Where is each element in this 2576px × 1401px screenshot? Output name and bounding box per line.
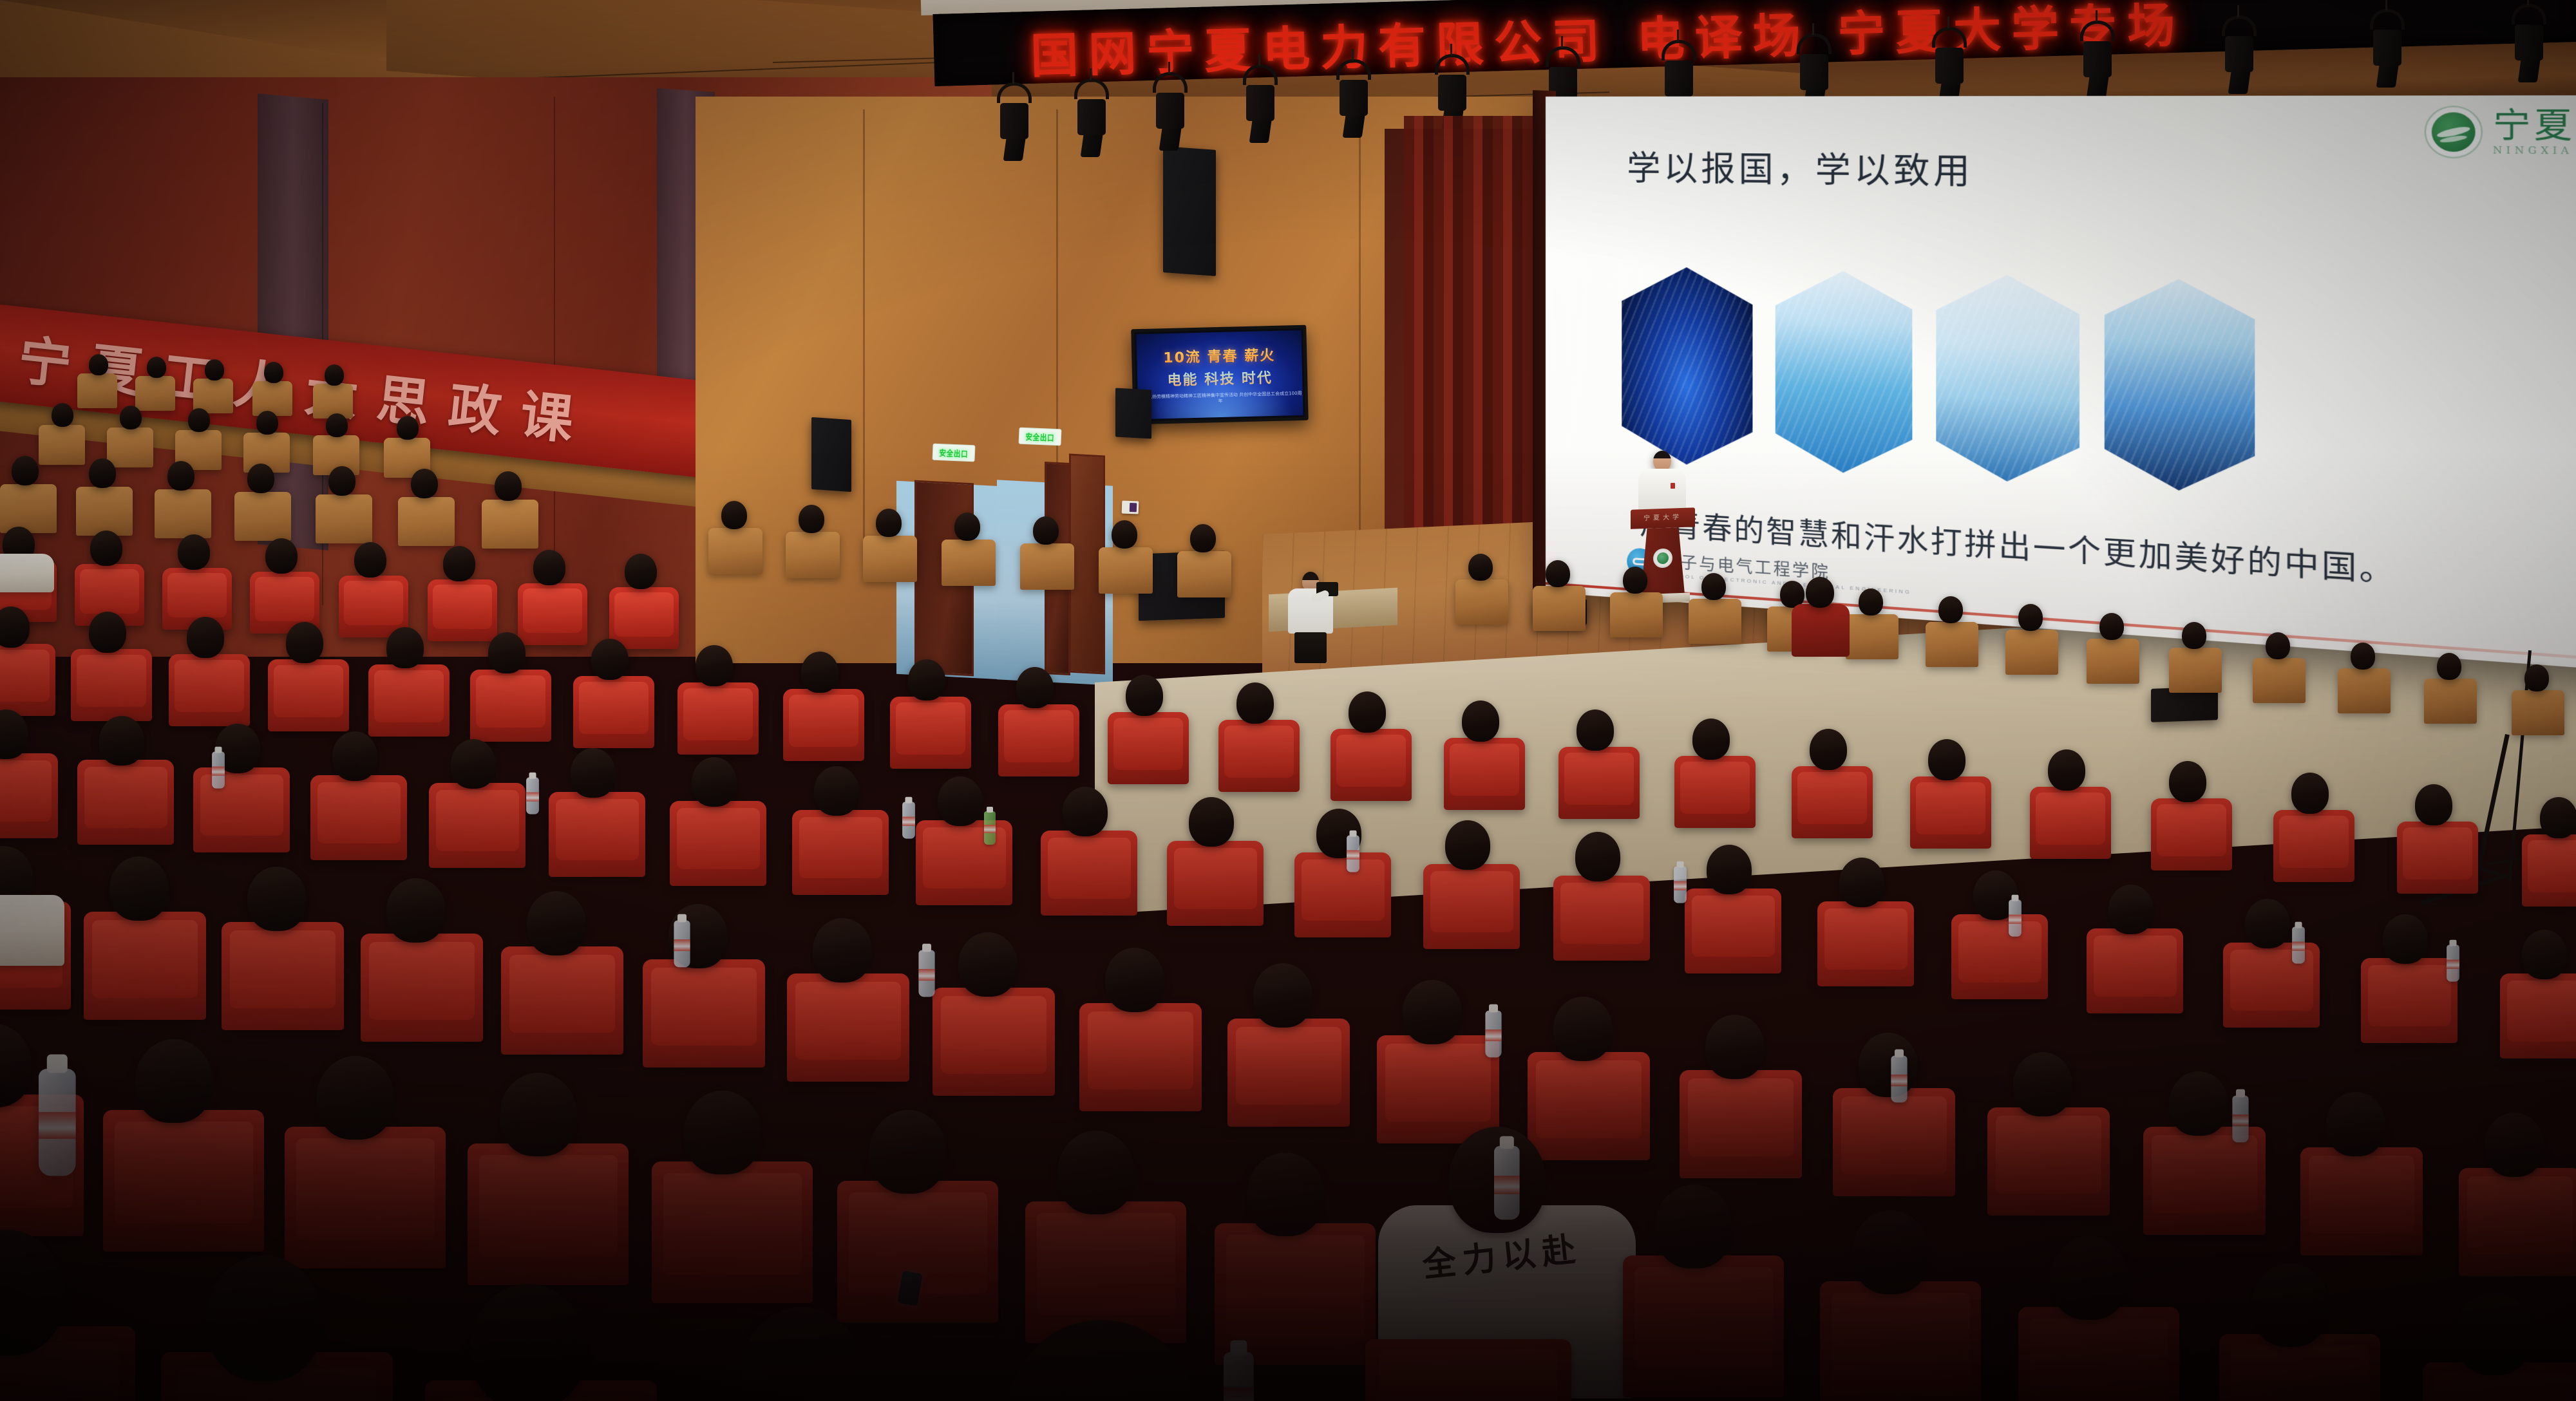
- theater-seat[interactable]: [998, 704, 1079, 776]
- theater-seat[interactable]: [1685, 889, 1781, 973]
- audience-head: [397, 416, 419, 440]
- theater-seat[interactable]: [77, 760, 174, 845]
- theater-seat[interactable]: [285, 1127, 446, 1268]
- theater-seat[interactable]: [2459, 1168, 2576, 1276]
- audience-head: [2245, 899, 2290, 948]
- theater-seat[interactable]: [1951, 914, 2048, 999]
- stage-light-12: [2222, 15, 2257, 94]
- theater-seat[interactable]: [1987, 1107, 2110, 1216]
- audience-head: [2524, 664, 2549, 691]
- audience-head: [451, 739, 496, 789]
- theater-seat[interactable]: [1041, 831, 1137, 916]
- theater-seat[interactable]: [1792, 766, 1873, 838]
- seat-back[interactable]: [708, 528, 762, 574]
- audience-head: [500, 1073, 577, 1156]
- theater-seat[interactable]: [890, 697, 971, 769]
- audience-head: [2013, 1052, 2072, 1116]
- theater-seat[interactable]: [1423, 864, 1520, 949]
- audience-head: [325, 364, 344, 386]
- audience-head: [1701, 573, 1726, 600]
- audience-head: [625, 554, 657, 589]
- theater-seat[interactable]: [1444, 738, 1525, 810]
- hex-image-power-grid: [1622, 266, 1752, 468]
- seat-back[interactable]: [39, 425, 85, 465]
- audience-head: [167, 461, 194, 491]
- water-bottle[interactable]: [902, 802, 915, 838]
- water-bottle[interactable]: [1485, 1011, 1501, 1058]
- audience-head: [0, 710, 28, 759]
- audience-head: [264, 362, 283, 383]
- audience-head: [411, 469, 438, 498]
- audience-head: [1546, 560, 1570, 587]
- seat-back[interactable]: [1610, 592, 1663, 637]
- audience-head: [12, 456, 39, 485]
- audience-head: [90, 531, 122, 566]
- theater-seat[interactable]: [1553, 876, 1650, 961]
- water-bottle[interactable]: [526, 777, 539, 814]
- theater-seat[interactable]: [2522, 834, 2576, 907]
- theater-seat[interactable]: [1365, 1339, 1571, 1401]
- seat-back[interactable]: [316, 494, 372, 543]
- water-bottle[interactable]: [674, 921, 690, 968]
- seat-back[interactable]: [398, 497, 455, 546]
- seat-back[interactable]: [155, 489, 211, 538]
- audience-head: [958, 932, 1018, 997]
- exit-sign-right: 安全出口: [1018, 428, 1061, 446]
- audience-head: [1253, 963, 1312, 1028]
- water-bottle-foreground[interactable]: [1494, 1146, 1520, 1219]
- audience-head: [2108, 885, 2154, 934]
- audience-head: [1462, 700, 1499, 742]
- theater-seat[interactable]: [1623, 1255, 1784, 1397]
- theater-seat[interactable]: [677, 682, 759, 755]
- audience-head: [386, 627, 424, 668]
- theater-seat[interactable]: [2397, 822, 2478, 894]
- auditorium-scene: 宁夏工人大思政课 安全出口 安全出口 10流 青春 薪火 电能 科技 时代 大力…: [0, 0, 2576, 1401]
- audience-head: [178, 534, 210, 570]
- wall-speaker-upper-left: [1163, 146, 1216, 276]
- audience-seating: 全力以赴: [0, 451, 2576, 1401]
- audience-head: [495, 471, 522, 501]
- audience-head: [1403, 980, 1462, 1044]
- theater-seat[interactable]: [1558, 747, 1640, 819]
- theater-seat[interactable]: [549, 792, 645, 877]
- audience-head: [317, 1056, 394, 1140]
- seat-back[interactable]: [107, 428, 153, 467]
- water-bottle-foreground[interactable]: [1224, 1352, 1254, 1401]
- audience-head: [205, 359, 224, 381]
- seat-back[interactable]: [1533, 586, 1586, 631]
- theater-seat[interactable]: [429, 783, 526, 868]
- audience-head: [1189, 797, 1234, 847]
- audience-head: [2485, 1113, 2544, 1177]
- theater-seat[interactable]: [670, 801, 766, 886]
- seat-back[interactable]: [1099, 547, 1153, 594]
- audience-head: [286, 622, 323, 663]
- university-name: 宁夏大学: [2493, 108, 2576, 143]
- theater-seat[interactable]: [2273, 810, 2354, 882]
- seat-back[interactable]: [77, 373, 117, 408]
- audience-head: [1806, 577, 1834, 608]
- audience-body-red-jacket: [1792, 604, 1850, 657]
- theater-seat[interactable]: [783, 689, 864, 761]
- audience-head: [692, 757, 737, 807]
- theater-seat[interactable]: [0, 753, 58, 838]
- audience-head: [332, 731, 377, 781]
- theater-seat[interactable]: [933, 988, 1055, 1096]
- audience-head: [533, 550, 565, 585]
- theater-seat[interactable]: [1331, 729, 1412, 801]
- theater-seat[interactable]: [573, 676, 654, 748]
- theater-seat[interactable]: [310, 775, 407, 860]
- audience-head: [1105, 948, 1164, 1012]
- theater-seat[interactable]: [2018, 1307, 2179, 1401]
- audience-head: [1033, 516, 1059, 545]
- audience-head: [2182, 622, 2206, 649]
- audience-head: [1707, 845, 1752, 894]
- theater-seat[interactable]: [470, 670, 551, 742]
- audience-head: [2437, 653, 2461, 680]
- theater-seat[interactable]: [222, 922, 344, 1030]
- seat-back[interactable]: [76, 487, 133, 536]
- theater-seat[interactable]: [1817, 901, 1914, 986]
- theater-seat[interactable]: [2361, 958, 2458, 1043]
- theater-seat[interactable]: [2143, 1127, 2266, 1235]
- audience-head: [1623, 567, 1647, 594]
- audience-head: [247, 464, 274, 493]
- theater-seat[interactable]: [1528, 1052, 1650, 1160]
- audience-head: [908, 659, 945, 700]
- audience-head: [265, 538, 298, 574]
- seat-back[interactable]: [1020, 543, 1074, 590]
- seat-back[interactable]: [2424, 679, 2477, 724]
- audience-head: [188, 408, 210, 432]
- audience-head: [89, 612, 126, 653]
- water-bottle[interactable]: [2232, 1096, 2248, 1143]
- seat-back[interactable]: [1455, 579, 1508, 625]
- audience-head: [2540, 797, 2576, 838]
- seat-back[interactable]: [2512, 690, 2564, 735]
- audience-head: [1852, 1210, 1929, 1294]
- water-bottle-foreground[interactable]: [39, 1069, 76, 1176]
- audience-head: [354, 542, 386, 578]
- audience-head: [2050, 1236, 2128, 1320]
- theater-seat[interactable]: [2223, 943, 2320, 1028]
- wall-tv-monitor[interactable]: 10流 青春 薪火 电能 科技 时代 大力弘扬劳模精神劳动精神工匠精神集中宣传活…: [1131, 325, 1309, 425]
- theater-seat[interactable]: [1227, 1019, 1350, 1127]
- water-bottle[interactable]: [1891, 1056, 1907, 1103]
- slide-title: 学以报国，学以致用: [1627, 141, 1973, 194]
- water-bottle[interactable]: [212, 751, 225, 788]
- audience-head: [1705, 1015, 1765, 1079]
- theater-seat[interactable]: [609, 587, 679, 649]
- audience-head: [386, 878, 446, 943]
- seat-back[interactable]: [2338, 668, 2391, 713]
- audience-head: [206, 1255, 322, 1381]
- seat-back[interactable]: [786, 532, 840, 578]
- theater-seat[interactable]: [916, 820, 1012, 905]
- seat-back[interactable]: [1689, 599, 1741, 644]
- audience-head: [591, 639, 629, 680]
- audience-head: [1692, 719, 1730, 760]
- theater-seat[interactable]: [84, 912, 206, 1020]
- theater-seat[interactable]: [643, 959, 765, 1067]
- audience-head: [2455, 1292, 2532, 1375]
- stage-light-3: [1153, 72, 1188, 151]
- audience-head: [721, 501, 747, 529]
- audience-head: [938, 776, 983, 826]
- theater-seat[interactable]: [2500, 973, 2576, 1058]
- water-bottle[interactable]: [918, 950, 934, 997]
- audience-head: [1575, 832, 1620, 881]
- water-bottle[interactable]: [1674, 866, 1687, 903]
- audience-head: [109, 856, 169, 921]
- audience-head: [799, 505, 824, 533]
- theater-seat[interactable]: [193, 767, 290, 852]
- audience-head: [1839, 858, 1884, 907]
- theater-seat[interactable]: [1108, 712, 1189, 784]
- audience-head: [1247, 1152, 1324, 1236]
- audience-head: [2099, 613, 2124, 640]
- stage-light-13: [2370, 9, 2405, 88]
- theater-seat[interactable]: [2151, 798, 2232, 870]
- theater-seat[interactable]: [792, 810, 889, 895]
- audience-head: [869, 1110, 947, 1194]
- audience-head: [52, 403, 73, 427]
- audience-head: [247, 867, 307, 931]
- audience-head: [2291, 773, 2329, 814]
- stage-light-1: [997, 82, 1032, 161]
- stage-light-2: [1074, 79, 1109, 157]
- audience-head: [814, 766, 859, 816]
- audience-head: [1126, 675, 1163, 716]
- theater-seat[interactable]: [1910, 776, 1991, 849]
- theater-seat[interactable]: [787, 973, 909, 1082]
- audience-head: [1445, 820, 1490, 870]
- theater-seat[interactable]: [1833, 1088, 1955, 1196]
- audience-head: [1057, 1131, 1135, 1214]
- audience-head: [2169, 1071, 2228, 1136]
- audience-head: [2266, 632, 2290, 659]
- theater-seat[interactable]: [0, 644, 55, 716]
- water-bottle[interactable]: [2009, 899, 2022, 936]
- audience-head: [2018, 604, 2043, 631]
- theater-seat[interactable]: [1218, 720, 1300, 792]
- theater-seat[interactable]: [1680, 1070, 1802, 1178]
- seat-back[interactable]: [2087, 639, 2139, 684]
- audience-head: [1190, 524, 1216, 552]
- audience-head: [2251, 1263, 2329, 1347]
- audience-head: [1236, 682, 1274, 724]
- audience-body: [0, 895, 64, 966]
- exit-sign-right-text: 安全出口: [1025, 430, 1055, 444]
- theater-seat[interactable]: [368, 664, 450, 737]
- tv-screen-content: 10流 青春 薪火 电能 科技 时代 大力弘扬劳模精神劳动精神工匠精神集中宣传活…: [1136, 330, 1303, 419]
- audience-head: [443, 546, 475, 581]
- audience-head: [2351, 643, 2375, 670]
- audience-head: [696, 645, 733, 686]
- audience-head: [1577, 710, 1614, 751]
- seat-back[interactable]: [863, 536, 917, 582]
- audience-head: [1553, 997, 1613, 1061]
- university-logo: 宁夏大学 NINGXIA UNIVERSITY: [2425, 106, 2576, 160]
- theater-seat[interactable]: [2087, 928, 2183, 1013]
- theater-seat[interactable]: [468, 1143, 629, 1285]
- audience-head: [2383, 914, 2428, 964]
- seat-back[interactable]: [1926, 622, 1978, 667]
- audience-head: [99, 716, 144, 766]
- audience-head: [813, 918, 872, 983]
- audience-head: [187, 617, 224, 658]
- seat-back[interactable]: [2169, 648, 2222, 693]
- audience-head: [147, 357, 166, 378]
- theater-seat[interactable]: [361, 934, 483, 1042]
- audience-head: [1112, 520, 1137, 549]
- stage-light-11: [2080, 21, 2115, 99]
- theater-seat[interactable]: [1674, 756, 1756, 828]
- audience-head: [1928, 739, 1965, 780]
- audience-head: [470, 1284, 586, 1401]
- audience-head: [328, 466, 355, 496]
- tv-headline-line1: 10流 青春 薪火: [1163, 343, 1276, 366]
- water-bottle[interactable]: [2292, 926, 2305, 963]
- seat-back[interactable]: [482, 500, 538, 549]
- audience-head: [488, 632, 526, 673]
- audience-head: [135, 1039, 213, 1123]
- audience-head: [2048, 749, 2085, 791]
- ningxia-university-crest-icon: [2425, 106, 2483, 158]
- seat-back[interactable]: [2253, 658, 2306, 703]
- water-bottle-green[interactable]: [984, 811, 996, 845]
- theater-seat[interactable]: [1294, 852, 1391, 937]
- stage-light-5: [1336, 59, 1371, 138]
- audience-head: [1938, 596, 1963, 623]
- seat-back[interactable]: [135, 376, 175, 411]
- theater-seat[interactable]: [103, 1110, 264, 1252]
- audience-head: [527, 891, 586, 955]
- audience-body: [0, 554, 54, 592]
- audience-head: [2326, 1092, 2385, 1156]
- stage-light-10: [1932, 27, 1967, 106]
- seat-back[interactable]: [0, 484, 57, 533]
- stage-light-4: [1243, 64, 1278, 143]
- theater-seat[interactable]: [652, 1161, 813, 1303]
- audience-head: [1016, 667, 1054, 708]
- wall-speaker-side: [1115, 388, 1151, 439]
- audience-head: [1859, 588, 1883, 616]
- audience-head: [2522, 930, 2567, 979]
- audience-head: [571, 748, 616, 798]
- theater-seat[interactable]: [1377, 1035, 1499, 1143]
- hex-image-snow-mountain: [1776, 269, 1913, 476]
- audience-head: [1859, 1033, 1918, 1097]
- stage-light-14: [2512, 4, 2546, 82]
- seat-back[interactable]: [1177, 551, 1231, 597]
- audience-head: [1349, 691, 1386, 733]
- theater-seat[interactable]: [501, 946, 623, 1055]
- theater-seat[interactable]: [1167, 841, 1264, 926]
- university-name-en: NINGXIA UNIVERSITY: [2493, 146, 2576, 158]
- audience-head: [1063, 787, 1108, 836]
- theater-seat[interactable]: [2030, 787, 2111, 859]
- audience-head: [2169, 761, 2206, 802]
- seat-back[interactable]: [942, 540, 996, 586]
- audience-head: [1810, 729, 1847, 770]
- audience-head: [801, 652, 838, 693]
- theater-seat[interactable]: [518, 583, 587, 645]
- audience-head: [89, 354, 108, 375]
- theater-seat[interactable]: [2300, 1147, 2423, 1255]
- audience-head: [89, 458, 116, 488]
- audience-head: [256, 411, 278, 435]
- audience-head: [1468, 554, 1493, 581]
- seat-back[interactable]: [252, 381, 292, 416]
- water-bottle[interactable]: [1347, 835, 1359, 872]
- theater-seat[interactable]: [1079, 1003, 1202, 1111]
- seat-back[interactable]: [1846, 614, 1899, 659]
- seat-back[interactable]: [2005, 630, 2058, 675]
- theater-seat[interactable]: [1820, 1281, 1981, 1401]
- theater-seat[interactable]: [71, 649, 152, 721]
- audience-head: [326, 413, 348, 437]
- theater-seat[interactable]: [169, 654, 250, 726]
- audience-head: [120, 406, 142, 429]
- theater-seat[interactable]: [268, 659, 349, 731]
- audience-head: [1655, 1185, 1732, 1268]
- theater-seat[interactable]: [428, 579, 497, 641]
- seat-back[interactable]: [234, 492, 291, 541]
- water-bottle[interactable]: [2447, 945, 2459, 981]
- audience-head: [2415, 784, 2452, 825]
- audience-head: [876, 509, 902, 537]
- audience-head: [954, 512, 980, 541]
- audience-head: [684, 1091, 761, 1174]
